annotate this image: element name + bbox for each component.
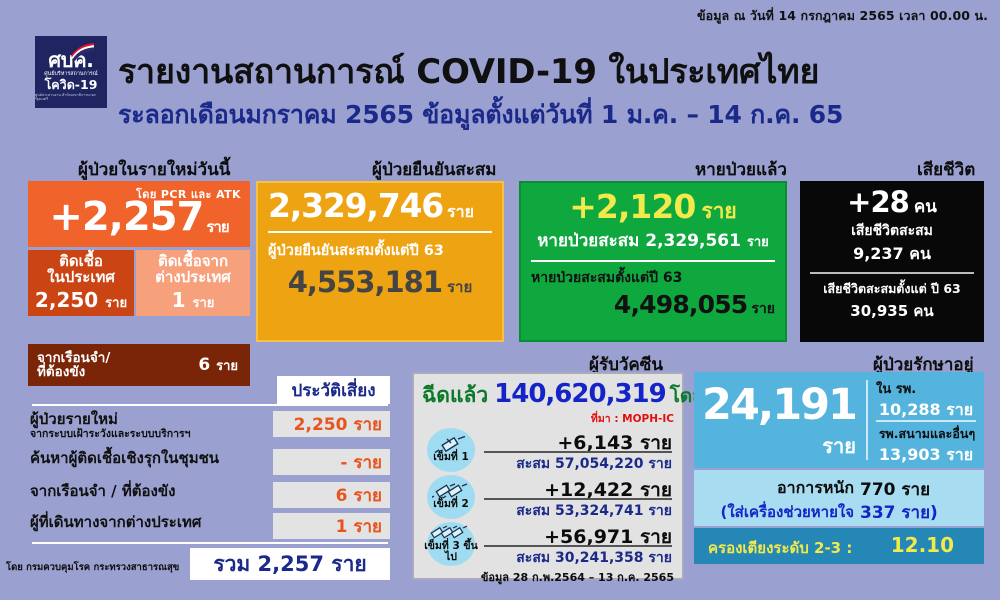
infographic-root: ข้อมูล ณ วันที่ 14 กรกฎาคม 2565 เวลา 00.… <box>0 0 1000 600</box>
severe-label: อาการหนัก <box>694 476 854 501</box>
risk-history-total: รวม 2,257 ราย <box>190 548 390 580</box>
recovered-since-row: 4,498,055ราย <box>531 290 775 320</box>
recovered-since-label: หายป่วยสะสมตั้งแต่ปี 63 <box>531 267 775 289</box>
vaccine-dose-1: เข็มที่ 1 +6,143 ราย สะสม 57,054,220 ราย <box>422 428 674 474</box>
vaccine-footnote: ข้อมูล 28 ก.พ.2564 – 13 ก.ค. 2565 <box>422 568 674 586</box>
imported-label-2: ต่างประเทศ <box>136 269 250 285</box>
ccsa-logo: ศบค. ศูนย์บริหารสถานการณ์ โควิด-19 ศูนย์… <box>35 36 107 108</box>
imported-unit: ราย <box>192 296 214 311</box>
risk-row-label-sub: จากระบบเฝ้าระวังและระบบบริการฯ <box>30 429 191 440</box>
prison-value: 6 <box>198 355 210 375</box>
recovered-since-value: 4,498,055 <box>614 290 748 319</box>
vaccine-dose-3: เข็มที่ 3 ขึ้นไป +56,971 ราย สะสม 30,241… <box>422 522 674 568</box>
domestic-cases-card: ติดเชื้อ ในประเทศ 2,250 ราย <box>28 250 134 316</box>
dose-3-badge: เข็มที่ 3 ขึ้นไป <box>424 522 478 568</box>
caption-recovered: หายป่วยแล้ว <box>695 156 787 183</box>
imported-value: 1 <box>172 288 186 312</box>
page-title: รายงานสถานการณ์ COVID-19 ในประเทศไทย <box>118 44 819 98</box>
recovered-value-row: +2,120ราย <box>531 189 775 225</box>
recovered-unit: ราย <box>701 199 736 223</box>
vaccine-headline-prefix: ฉีดแล้ว <box>422 383 488 407</box>
vaccine-panel: ฉีดแล้ว140,620,319โดส ที่มา : MOPH-IC เข… <box>412 372 684 580</box>
prison-cases-card: จากเรือนจำ/ ที่ต้องขัง 6 ราย <box>28 344 250 386</box>
risk-row-label-main: ผู้ป่วยรายใหม่ <box>30 410 118 428</box>
cumulative-since-unit: ราย <box>447 278 472 296</box>
dose-3-total: สะสม 30,241,358 ราย <box>482 547 672 569</box>
vaccine-headline: ฉีดแล้ว140,620,319โดส <box>422 379 674 412</box>
dose-3-label: เข็มที่ 3 ขึ้นไป <box>424 541 478 562</box>
cumulative-since-row: 4,553,181ราย <box>268 265 492 299</box>
cumulative-since-value: 4,553,181 <box>288 265 442 299</box>
cumulative-divider <box>268 231 492 233</box>
prison-label: จากเรือนจำ/ ที่ต้องขัง <box>37 351 110 379</box>
risk-row-label: ผู้ป่วยรายใหม่ จากระบบเฝ้าระวังและระบบบร… <box>30 412 191 440</box>
prison-value-row: 6 ราย <box>198 355 238 376</box>
deaths-total-value: 9,237 คน <box>810 242 974 267</box>
vaccine-source: ที่มา : MOPH-IC <box>422 410 674 427</box>
dose-2-total: สะสม 53,324,741 ราย <box>482 500 672 522</box>
domestic-label-1: ติดเชื้อ <box>28 253 134 269</box>
imported-cases-card: ติดเชื้อจาก ต่างประเทศ 1 ราย <box>136 250 250 316</box>
bed-occupancy-label: ครองเตียงระดับ 2-3 : <box>708 536 852 560</box>
risk-row-label: ผู้ที่เดินทางจากต่างประเทศ <box>30 515 201 531</box>
cumulative-since-label: ผู้ป่วยยืนยันสะสมตั้งแต่ปี 63 <box>268 239 492 262</box>
recovered-total-row: หายป่วยสะสม 2,329,561 ราย <box>531 227 775 254</box>
deaths-divider <box>810 272 974 274</box>
ventilator-label: (ใส่เครื่องช่วยหายใจ <box>694 500 854 524</box>
treating-card: 24,191 ราย ใน รพ. 10,288 ราย รพ.สนามและอ… <box>694 372 984 468</box>
recovered-card: +2,120ราย หายป่วยสะสม 2,329,561 ราย หายป… <box>519 181 787 342</box>
deaths-unit: คน <box>914 197 937 217</box>
risk-history-top-rule <box>32 404 388 406</box>
severe-cases-card: อาการหนัก 770 ราย (ใส่เครื่องช่วยหายใจ 3… <box>694 470 984 526</box>
vaccine-headline-value: 140,620,319 <box>494 379 666 409</box>
imported-value-row: 1 ราย <box>136 288 250 313</box>
risk-row-label: ค้นหาผู้ติดเชื้อเชิงรุกในชุมชน <box>30 451 219 467</box>
risk-history-tag: ประวัติเสี่ยง <box>277 376 390 404</box>
risk-row-new-cases: ผู้ป่วยรายใหม่ จากระบบเฝ้าระวังและระบบบร… <box>24 412 390 444</box>
bed-occupancy-card: ครองเตียงระดับ 2-3 : 12.10 <box>694 528 984 564</box>
dose-1-total: สะสม 57,054,220 ราย <box>482 453 672 475</box>
cumulative-value: 2,329,746 <box>268 186 443 225</box>
treating-horizontal-rule <box>876 420 976 422</box>
deaths-since-label: เสียชีวิตสะสมตั้งแต่ ปี 63 <box>810 279 974 299</box>
caption-cumulative: ผู้ป่วยยืนยันสะสม <box>372 156 497 183</box>
deaths-since-value: 30,935 คน <box>810 299 974 323</box>
risk-row-active-search: ค้นหาผู้ติดเชื้อเชิงรุกในชุมชน - ราย <box>24 448 390 480</box>
new-cases-card: โดย PCR และ ATK +2,257ราย <box>28 181 250 247</box>
caption-deaths: เสียชีวิต <box>917 156 975 183</box>
recovered-value: +2,120 <box>569 187 695 226</box>
risk-row-label: จากเรือนจำ / ที่ต้องขัง <box>30 484 175 500</box>
domestic-value-row: 2,250 ราย <box>28 288 134 313</box>
page-subtitle: ระลอกเดือนมกราคม 2565 ข้อมูลตั้งแต่วันที… <box>118 95 843 135</box>
imported-label-1: ติดเชื้อจาก <box>136 253 250 269</box>
dose-1-label: เข็มที่ 1 <box>433 452 469 463</box>
treating-vertical-rule <box>866 380 868 460</box>
new-cases-unit: ราย <box>206 218 228 236</box>
treating-field-value: 13,903 ราย <box>876 443 976 468</box>
caption-new-cases: ผู้ป่วยในรายใหม่วันนี้ <box>78 156 230 183</box>
treating-value: 24,191 <box>694 380 864 430</box>
prison-label-2: ที่ต้องขัง <box>37 364 85 380</box>
deaths-value: +28 <box>847 185 909 219</box>
recovered-total-value: 2,329,561 <box>645 231 741 251</box>
risk-row-prison: จากเรือนจำ / ที่ต้องขัง 6 ราย <box>24 481 390 513</box>
recovered-divider <box>531 260 775 262</box>
domestic-value: 2,250 <box>35 288 98 312</box>
dose-2-label: เข็มที่ 2 <box>433 499 469 510</box>
deaths-card: +28คน เสียชีวิตสะสม 9,237 คน เสียชีวิตสะ… <box>800 181 984 342</box>
deaths-value-row: +28คน <box>810 187 974 219</box>
cumulative-card: 2,329,746ราย ผู้ป่วยยืนยันสะสมตั้งแต่ปี … <box>256 181 504 342</box>
risk-row-value: 1 ราย <box>273 513 390 539</box>
risk-row-value: 2,250 ราย <box>273 411 390 437</box>
recovered-since-unit: ราย <box>751 301 775 317</box>
domestic-unit: ราย <box>105 296 127 311</box>
cumulative-unit: ราย <box>447 202 474 221</box>
new-cases-value: +2,257 <box>49 194 203 240</box>
recovered-total-unit: ราย <box>747 235 769 250</box>
treating-hospital-label: ใน รพ. <box>876 378 916 399</box>
credit-line: โดย กรมควบคุมโรค กระทรวงสาธารณสุข <box>6 560 179 575</box>
ventilator-value: 337 ราย) <box>860 499 938 526</box>
as-of-date: ข้อมูล ณ วันที่ 14 กรกฎาคม 2565 เวลา 00.… <box>697 6 988 26</box>
risk-history-bottom-rule <box>32 542 388 544</box>
bed-occupancy-value: 12.10 <box>891 533 954 557</box>
logo-line3: โควิด-19 <box>45 78 98 92</box>
treating-field-label: รพ.สนามและอื่นๆ <box>876 424 978 444</box>
cumulative-value-row: 2,329,746ราย <box>268 189 492 224</box>
thai-flag-wave-icon <box>69 42 95 62</box>
risk-row-value: - ราย <box>273 449 390 475</box>
vaccine-dose-2: เข็มที่ 2 +12,422 ราย สะสม 53,324,741 รา… <box>422 475 674 521</box>
domestic-label-2: ในประเทศ <box>28 269 134 285</box>
new-cases-value-row: +2,257ราย <box>28 197 250 237</box>
risk-row-travellers: ผู้ที่เดินทางจากต่างประเทศ 1 ราย <box>24 512 390 544</box>
recovered-total-label: หายป่วยสะสม <box>537 231 639 251</box>
deaths-total-label: เสียชีวิตสะสม <box>810 220 974 242</box>
dose-1-badge: เข็มที่ 1 <box>424 428 478 474</box>
prison-unit: ราย <box>216 359 238 374</box>
treating-unit: ราย <box>694 430 864 462</box>
logo-line4: ศูนย์ประสานงาน สำนักเลขาธิการนายกรัฐมนตร… <box>35 94 107 102</box>
dose-2-badge: เข็มที่ 2 <box>424 475 478 521</box>
risk-row-value: 6 ราย <box>273 482 390 508</box>
